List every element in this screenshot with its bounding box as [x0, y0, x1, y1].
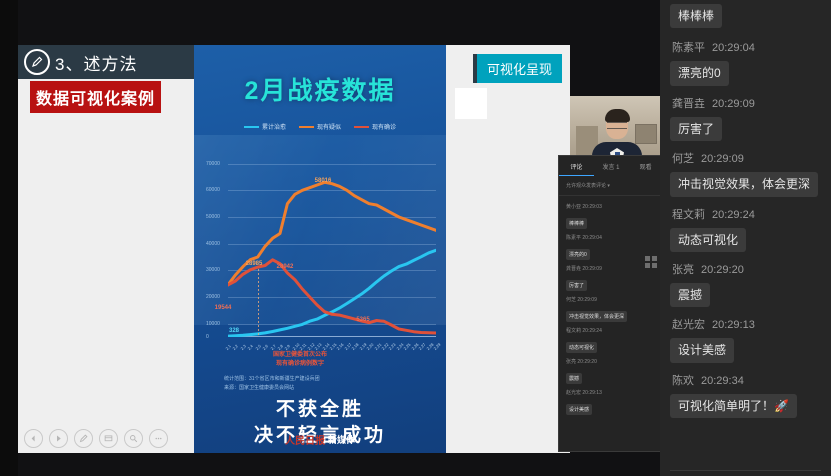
chat-message-author: 何芝: [672, 153, 694, 165]
legend-swatch-suspect: [299, 126, 314, 128]
xtick-2.6: 2.6: [262, 344, 269, 351]
chat-bubble: 厉害了: [670, 117, 722, 141]
legend-swatch-confirmed: [354, 126, 369, 128]
brand-media-name: 新媒体: [328, 433, 355, 446]
app-root: 3、述方法 数据可视化案例 可视化呈现 2月战疫数据 累计治愈 现有疑似: [0, 0, 831, 476]
series-line-现有确诊: [228, 260, 436, 333]
data-label-58016: 58016: [315, 178, 332, 184]
pen-circle-icon: [24, 49, 50, 75]
annotation-marker-line: [258, 269, 259, 337]
play-button[interactable]: [49, 429, 68, 448]
brand-paper-name: 人民日报: [285, 432, 325, 447]
video-presenter-glasses: [607, 122, 627, 129]
mini-permission-select[interactable]: 允许观众发表评论 ▾: [559, 176, 663, 196]
poster-red-note-l2: 现有确诊病例数字: [240, 360, 360, 369]
mini-message-meta: 程文莉 20:29:24: [566, 327, 656, 334]
chat-message: 龚晋垚20:29:09厉害了: [670, 95, 821, 141]
poster-slogan-line1: 不获全胜: [194, 397, 446, 423]
mini-message-bubble: 厉害了: [566, 280, 587, 291]
mini-message: 黄小亚 20:29:03棒棒棒: [566, 203, 656, 230]
mini-permission-label: 允许观众发表评论: [566, 183, 606, 189]
poster-brand: 人民日报 新媒体: [194, 432, 446, 447]
mini-message-bubble: 动态可视化: [566, 342, 597, 353]
chat-message: 陈欢20:29:34可视化简单明了！🚀: [670, 372, 821, 418]
mini-message-meta: 龚晋垚 20:29:09: [566, 265, 656, 272]
chat-message: 陈素平20:29:04漂亮的0: [670, 39, 821, 85]
chat-message-time: 20:29:20: [701, 264, 744, 276]
chat-message-time: 20:29:04: [712, 42, 755, 54]
mini-panel-tabs: 评论 发言 1 观看: [559, 156, 663, 176]
floating-comment-panel[interactable]: 评论 发言 1 观看 允许观众发表评论 ▾ 黄小亚 20:29:03棒棒棒陈素平…: [558, 155, 664, 452]
legend-label-cure: 累计治愈: [262, 122, 286, 131]
chat-message-time: 20:29:34: [701, 375, 744, 387]
presentation-stage: 3、述方法 数据可视化案例 可视化呈现 2月战疫数据 累计治愈 现有疑似: [0, 0, 660, 476]
slide-section-title: 3、述方法: [18, 45, 194, 79]
poster-red-note: 国家卫健委首次公布 现有确诊病例数字: [240, 351, 360, 369]
chat-bubble: 震撼: [670, 283, 710, 307]
chat-message-author: 陈欢: [672, 375, 694, 387]
mini-tab-viewers[interactable]: 观看: [628, 162, 663, 176]
grid-view-icon[interactable]: [645, 256, 657, 268]
chat-message-time: 20:29:13: [712, 319, 755, 331]
mini-message-bubble: 棒棒棒: [566, 218, 587, 229]
ytick-70000: 70000: [206, 161, 220, 167]
chart-legend: 累计治愈 现有疑似 现有确诊: [194, 122, 446, 131]
chat-message-meta: 程文莉20:29:24: [672, 206, 821, 222]
mini-message-meta: 张亮 20:29:20: [566, 358, 656, 365]
legend-label-confirmed: 现有确诊: [372, 122, 396, 131]
mini-tab-speakers[interactable]: 发言 1: [594, 162, 629, 176]
chat-message-meta: 陈欢20:29:34: [672, 372, 821, 388]
poster-source-note: 统计范围：31个省区市和新疆生产建设兵团 来源：国家卫生健康委员会网站: [224, 375, 320, 392]
slide-subtitle: 数据可视化案例: [30, 81, 161, 113]
chat-message-meta: 陈素平20:29:04: [672, 39, 821, 55]
video-presenter-hair: [605, 109, 630, 122]
chat-message-meta: 赵光宏20:29:13: [672, 316, 821, 332]
chat-message-author: 张亮: [672, 264, 694, 276]
visualization-tag: 可视化呈现: [477, 54, 562, 83]
xtick-2.2: 2.2: [232, 344, 239, 351]
mini-message-bubble: 设计美感: [566, 404, 592, 415]
chat-message-time: 20:29:09: [712, 98, 755, 110]
chart-plot-area: [228, 137, 436, 337]
data-label-328: 328: [229, 328, 239, 334]
mini-message: 陈素平 20:29:04漂亮的0: [566, 234, 656, 261]
poster-note-source: 来源：国家卫生健康委员会网站: [224, 384, 320, 393]
chat-message: 何芝20:29:09冲击视觉效果，体会更深: [670, 150, 821, 196]
ytick-0: 0: [206, 334, 209, 340]
mini-tab-comments[interactable]: 评论: [559, 162, 594, 176]
zoom-button[interactable]: [124, 429, 143, 448]
mini-message: 龚晋垚 20:29:09厉害了: [566, 265, 656, 292]
series-line-现有疑似: [228, 182, 436, 285]
mini-message-list[interactable]: 黄小亚 20:29:03棒棒棒陈素平 20:29:04漂亮的0龚晋垚 20:29…: [559, 196, 663, 451]
chat-message-list: 陈素平20:29:04漂亮的0龚晋垚20:29:09厉害了何芝20:29:09冲…: [670, 30, 821, 420]
chat-message: 赵光宏20:29:13设计美感: [670, 316, 821, 362]
chat-message-author: 陈素平: [672, 42, 705, 54]
chat-input-divider: [670, 470, 821, 472]
ytick-20000: 20000: [206, 294, 220, 300]
video-picture-frame: [635, 124, 657, 144]
chat-message-author: 程文莉: [672, 209, 705, 221]
chat-bubble: 设计美感: [670, 338, 734, 362]
chat-bubble: 冲击视觉效果，体会更深: [670, 172, 818, 196]
chat-message-author: 赵光宏: [672, 319, 705, 331]
chevron-down-icon: ▾: [607, 183, 610, 189]
ytick-50000: 50000: [206, 214, 220, 220]
mini-message: 何芝 20:29:09冲击视觉效果，体会更深: [566, 296, 656, 323]
mini-message-bubble: 冲击视觉效果，体会更深: [566, 311, 627, 322]
poster-title: 2月战疫数据: [194, 71, 446, 107]
mini-message: 张亮 20:29:20震撼: [566, 358, 656, 385]
legend-item-cure: 累计治愈: [244, 122, 286, 131]
chat-message: 张亮20:29:20震撼: [670, 261, 821, 307]
chat-message-first: 棒棒棒: [670, 0, 821, 28]
chat-bubble: 可视化简单明了！🚀: [670, 394, 797, 418]
chat-message-time: 20:29:24: [712, 209, 755, 221]
slide-white-block: [455, 88, 487, 119]
annotate-button[interactable]: [74, 429, 93, 448]
ytick-60000: 60000: [206, 187, 220, 193]
whiteboard-button[interactable]: [99, 429, 118, 448]
xtick-2.29: 2.29: [432, 342, 441, 351]
mini-message-meta: 赵光宏 20:29:13: [566, 389, 656, 396]
mini-message-bubble: 震撼: [566, 373, 582, 384]
chat-message-meta: 龚晋垚20:29:09: [672, 95, 821, 111]
ytick-40000: 40000: [206, 241, 220, 247]
infographic-poster: 2月战疫数据 累计治愈 现有疑似 现有确诊: [194, 45, 446, 453]
chat-message: 程文莉20:29:24动态可视化: [670, 206, 821, 252]
chat-message-meta: 何芝20:29:09: [672, 150, 821, 166]
data-label-19544: 19544: [215, 305, 232, 311]
xtick-2.9: 2.9: [284, 344, 291, 351]
legend-item-suspect: 现有疑似: [299, 122, 341, 131]
slide-toolbar: [18, 423, 200, 453]
mini-message: 程文莉 20:29:24动态可视化: [566, 327, 656, 354]
chat-bubble: 漂亮的0: [670, 61, 729, 85]
legend-label-suspect: 现有疑似: [317, 122, 341, 131]
slide-section-title-text: 3、述方法: [55, 50, 137, 75]
data-label-28942: 28942: [277, 264, 294, 270]
chat-message-time: 20:29:09: [701, 153, 744, 165]
mini-message-bubble: 漂亮的0: [566, 249, 590, 260]
data-label-5365: 5365: [356, 317, 369, 323]
ytick-30000: 30000: [206, 267, 220, 273]
slide-canvas[interactable]: 3、述方法 数据可视化案例 可视化呈现 2月战疫数据 累计治愈 现有疑似: [18, 45, 570, 453]
legend-swatch-cure: [244, 126, 259, 128]
mini-message-meta: 黄小亚 20:29:03: [566, 203, 656, 210]
data-label-28985: 28985: [246, 261, 263, 267]
mini-message: 赵光宏 20:29:13设计美感: [566, 389, 656, 416]
mini-message-meta: 陈素平 20:29:04: [566, 234, 656, 241]
stage-left-strip: [0, 0, 18, 476]
chat-bubble: 动态可视化: [670, 228, 746, 252]
epidemic-line-chart: 70000 60000 50000 40000 30000 20000 1000…: [206, 137, 436, 337]
more-button[interactable]: [149, 429, 168, 448]
poster-red-note-l1: 国家卫健委首次公布: [240, 351, 360, 360]
prev-button[interactable]: [24, 429, 43, 448]
ytick-10000: 10000: [206, 321, 220, 327]
mini-message-meta: 何芝 20:29:09: [566, 296, 656, 303]
legend-item-confirmed: 现有确诊: [354, 122, 396, 131]
chat-bubble: 棒棒棒: [670, 4, 722, 28]
chat-panel[interactable]: 棒棒棒 陈素平20:29:04漂亮的0龚晋垚20:29:09厉害了何芝20:29…: [660, 0, 831, 476]
chat-message-meta: 张亮20:29:20: [672, 261, 821, 277]
xtick-2.4: 2.4: [247, 344, 254, 351]
poster-note-scope: 统计范围：31个省区市和新疆生产建设兵团: [224, 375, 320, 384]
chat-message-author: 龚晋垚: [672, 98, 705, 110]
